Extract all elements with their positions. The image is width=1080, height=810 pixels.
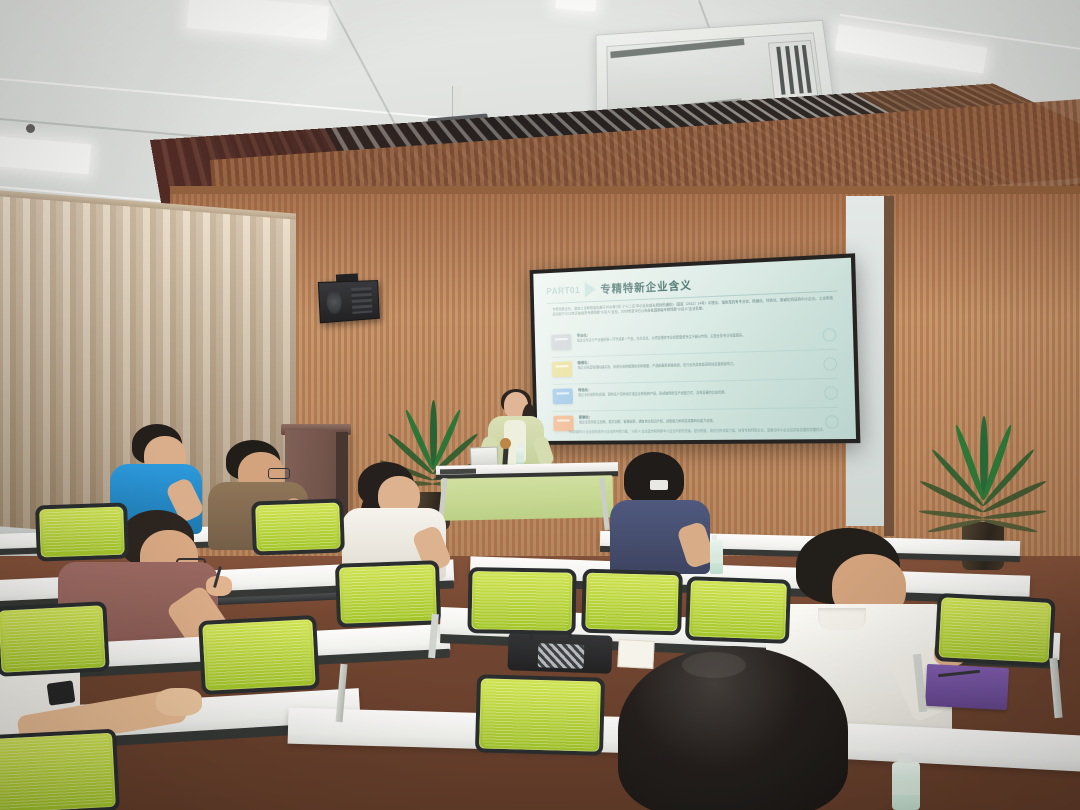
- slide-title: 专精特新企业含义: [600, 277, 692, 297]
- chair: [689, 580, 787, 639]
- chair: [0, 605, 106, 672]
- chair: [479, 678, 601, 751]
- backpack-pattern-panel: [538, 643, 585, 669]
- smartwatch: [47, 680, 76, 705]
- hair-highlight: [682, 652, 746, 678]
- collar: [818, 608, 866, 630]
- slide-surface: PART01 专精特新企业含义 专精特新企业，是由工业和信息化部于2011年7月…: [533, 258, 856, 441]
- chair: [202, 619, 315, 691]
- chair: [39, 507, 125, 558]
- chair: [255, 503, 341, 552]
- row-icon-chip: [553, 388, 573, 404]
- chair: [585, 573, 679, 632]
- row-icon-chip: [553, 416, 573, 432]
- audience-member-front-long-hair: [618, 646, 868, 810]
- ceiling-sprinkler: [26, 124, 35, 133]
- ceiling-light-panel: [0, 136, 91, 175]
- wall-trim-band: [170, 186, 1080, 194]
- chair: [939, 597, 1052, 663]
- slide-row: 精细化： 指企业经营管理精细高效，采用先进的管理体系和制度，产品和服务质量精良，…: [552, 352, 838, 385]
- ac-vent-grille: [768, 40, 818, 100]
- hand: [206, 576, 232, 596]
- glasses-icon: [268, 468, 290, 479]
- row-icon-chip: [552, 361, 572, 377]
- seminar-room-photo: PART01 专精特新企业含义 专精特新企业，是由工业和信息化部于2011年7月…: [0, 0, 1080, 810]
- audience-member-navy-shirt: [608, 452, 720, 574]
- slide-definition-rows: 专业化： 指企业专注于产业链的某一环节或某一产品，为大企业、大项目提供专业化配套…: [551, 323, 839, 440]
- hair-clip-icon: [650, 480, 668, 490]
- chair: [0, 733, 116, 810]
- chair: [472, 571, 573, 631]
- chair: [339, 564, 437, 623]
- slide-row: 特色化： 指企业利用特色资源，研制生产具有地方或企业特色的产品，形成独特的生产经…: [552, 381, 838, 412]
- ceiling-light-panel: [555, 0, 596, 12]
- row-watermark-icon: [824, 386, 838, 400]
- water-bottle: [710, 540, 723, 574]
- microphone-head: [500, 438, 511, 449]
- row-watermark-icon: [823, 357, 837, 371]
- row-watermark-icon: [822, 328, 836, 342]
- ceiling-light-panel: [187, 0, 329, 40]
- water-bottle: [892, 762, 920, 810]
- presenter-table-modesty-panel: [441, 475, 614, 521]
- hand: [156, 688, 202, 716]
- slide-part-label: PART01: [546, 285, 580, 296]
- wall-speaker: [318, 280, 380, 323]
- row-icon-chip: [551, 334, 571, 350]
- chevron-right-icon: [584, 281, 596, 297]
- projection-screen: PART01 专精特新企业含义 专精特新企业，是由工业和信息化部于2011年7月…: [530, 253, 861, 445]
- wall-edge-shadow: [884, 196, 894, 536]
- slide-intro-paragraph: 专精特新企业，是由工业和信息化部于2011年7月《“十二五”中小企业成长规划的通…: [552, 296, 833, 318]
- hair: [624, 452, 684, 504]
